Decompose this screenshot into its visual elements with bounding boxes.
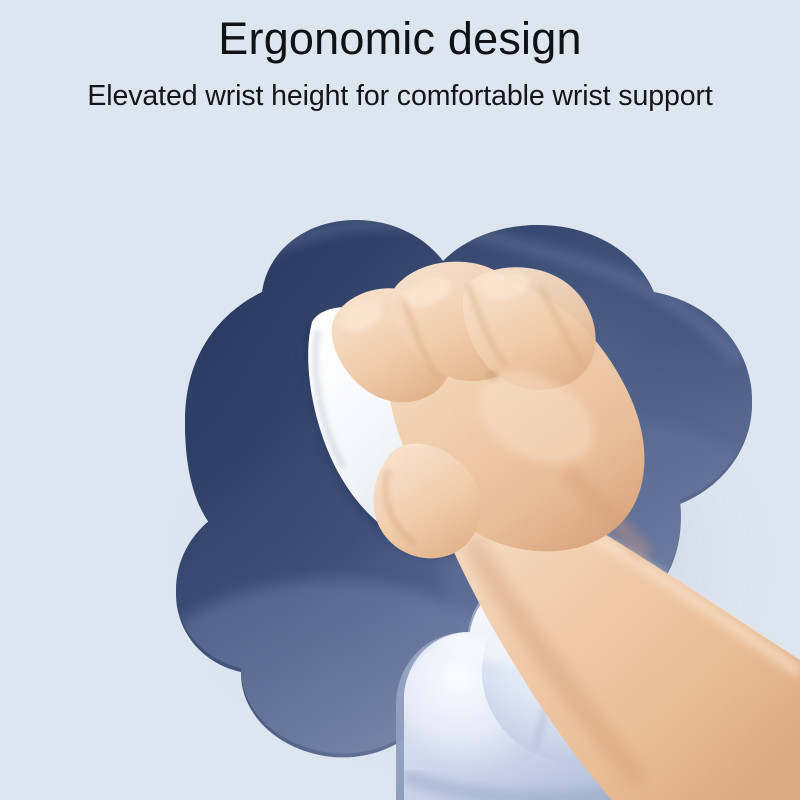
page-subtitle: Elevated wrist height for comfortable wr… xyxy=(0,65,800,113)
headline-block: Ergonomic design Elevated wrist height f… xyxy=(0,0,800,113)
page-title: Ergonomic design xyxy=(0,0,800,65)
product-marketing-image: Ergonomic design Elevated wrist height f… xyxy=(0,0,800,800)
product-scene xyxy=(0,0,800,800)
